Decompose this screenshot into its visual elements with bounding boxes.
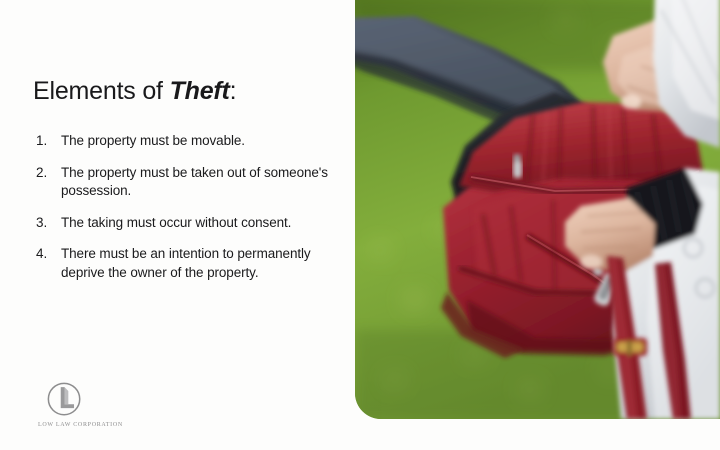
page-title: Elements of Theft: bbox=[33, 76, 236, 106]
theft-photograph bbox=[355, 0, 720, 419]
list-item-number: 1. bbox=[33, 132, 61, 151]
title-emphasis: Theft bbox=[170, 77, 230, 105]
list-item-number: 2. bbox=[33, 164, 61, 183]
list-item-text: The property must be movable. bbox=[61, 132, 338, 151]
logo-text: LOW LAW CORPORATION bbox=[38, 422, 158, 428]
slide: Elements of Theft: 1. The property must … bbox=[0, 0, 720, 450]
list-item: 3. The taking must occur without consent… bbox=[33, 214, 338, 233]
list-item-number: 3. bbox=[33, 214, 61, 233]
photo-canvas bbox=[355, 0, 720, 419]
title-prefix: Elements of bbox=[33, 77, 170, 105]
list-item-number: 4. bbox=[33, 245, 61, 264]
list-item-text: The taking must occur without consent. bbox=[61, 214, 338, 233]
list-item: 4. There must be an intention to permane… bbox=[33, 245, 338, 282]
list-item: 1. The property must be movable. bbox=[33, 132, 338, 151]
list-item-text: There must be an intention to permanentl… bbox=[61, 245, 338, 282]
list-item-text: The property must be taken out of someon… bbox=[61, 164, 338, 201]
circle-l-monogram-icon bbox=[44, 381, 86, 419]
elements-list: 1. The property must be movable. 2. The … bbox=[33, 132, 338, 295]
title-suffix: : bbox=[230, 77, 237, 105]
text-panel: Elements of Theft: 1. The property must … bbox=[0, 0, 355, 450]
logo: LOW LAW CORPORATION bbox=[38, 381, 158, 428]
list-item: 2. The property must be taken out of som… bbox=[33, 164, 338, 201]
